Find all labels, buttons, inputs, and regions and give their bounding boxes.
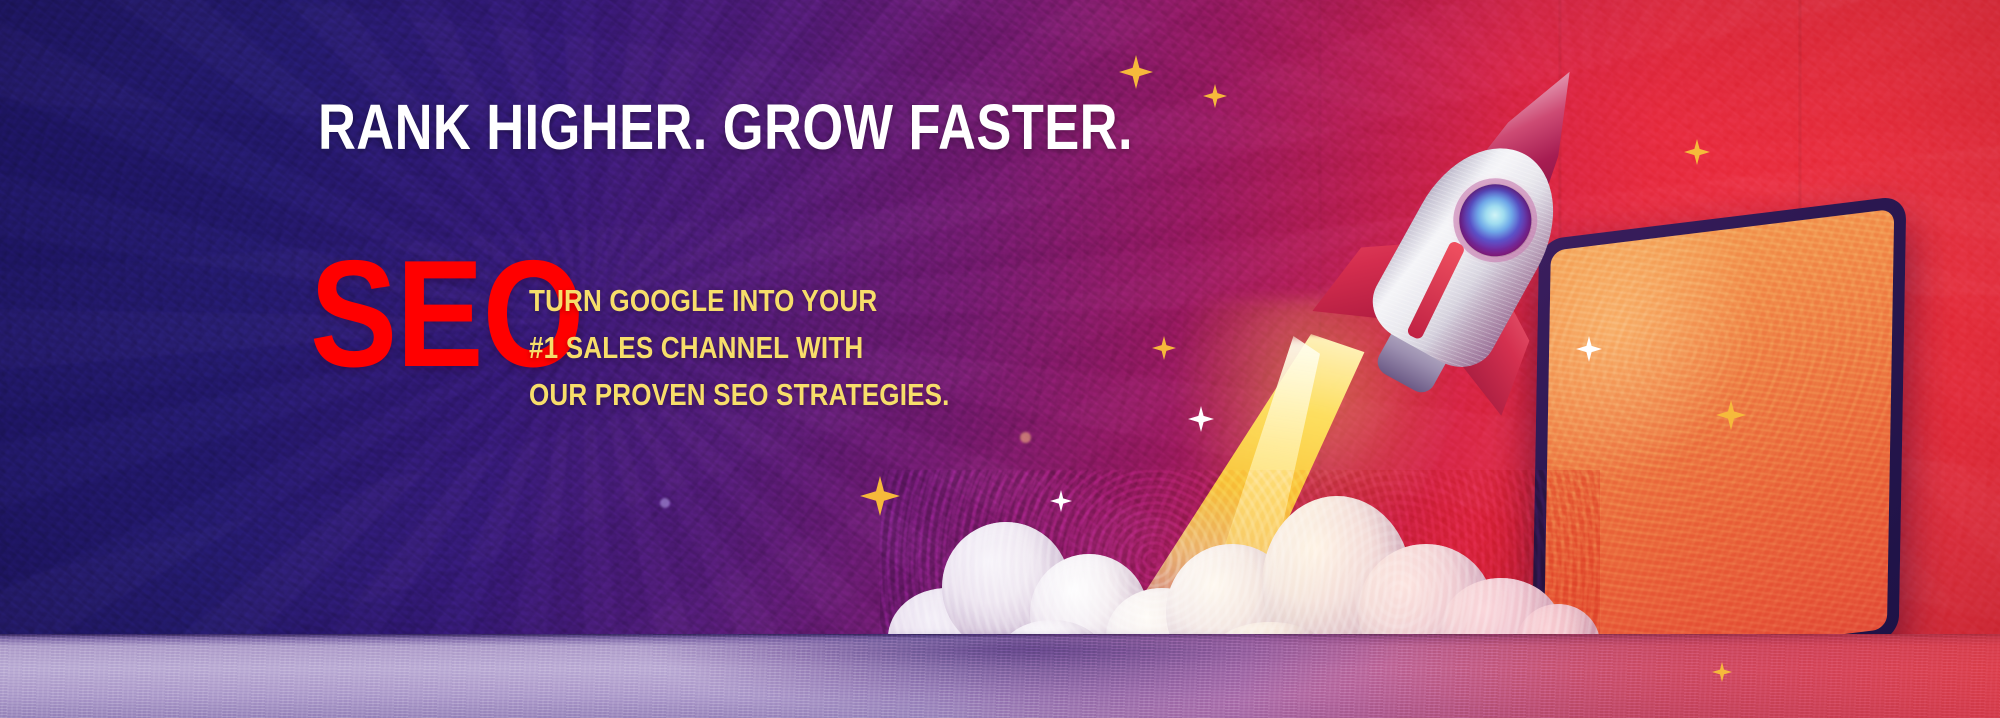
seo-hero-banner: RANK HIGHER. GROW FASTER. SEO TURN GOOGL… [0,0,2000,718]
tagline-line-3: OUR PROVEN SEO STRATEGIES. [529,371,950,418]
page-title: RANK HIGHER. GROW FASTER. [318,95,1133,159]
light-speck [1020,432,1031,443]
tagline-line-1: TURN GOOGLE INTO YOUR [529,277,950,324]
tagline-line-2: #1 SALES CHANNEL WITH [529,324,950,371]
brand-word-seo: SEO [310,255,495,374]
tagline-text: TURN GOOGLE INTO YOUR #1 SALES CHANNEL W… [529,277,950,418]
floor-texture [0,634,2000,718]
seo-tagline-block: SEO TURN GOOGLE INTO YOUR #1 SALES CHANN… [310,255,1030,418]
light-speck [660,498,670,508]
